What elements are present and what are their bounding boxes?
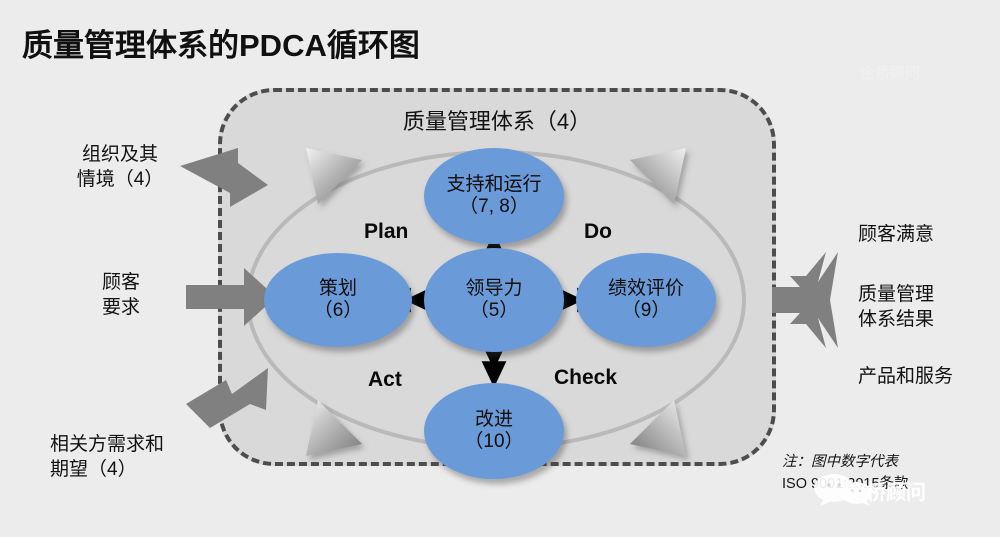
input-arrow-context <box>180 148 268 207</box>
node-leadership[interactable]: 领导力 （5） <box>424 248 564 352</box>
node-leadership-line1: 领导力 <box>465 278 522 300</box>
output-label-satisfaction-line1: 顾客满意 <box>858 222 934 247</box>
node-improvement[interactable]: 改进 （10） <box>424 383 564 479</box>
cycle-arrow-act <box>306 400 362 456</box>
input-label-customer-line2: 要求 <box>66 295 176 320</box>
node-plan[interactable]: 策划 （6） <box>264 253 412 347</box>
node-support[interactable]: 支持和运行 （7, 8） <box>424 148 564 244</box>
output-label-satisfaction: 顾客满意 <box>858 222 934 247</box>
footnote-line2: ISO 9001:2015条款 <box>782 474 909 496</box>
stage-label-act: Act <box>368 368 402 392</box>
cycle-arrow-plan <box>306 148 362 204</box>
node-performance-line1: 绩效评价 <box>608 278 684 300</box>
stage-label-do: Do <box>584 220 612 244</box>
input-label-party-line2: 期望（4） <box>50 457 220 482</box>
input-label-context-line1: 组织及其 <box>50 142 190 167</box>
input-label-customer: 顾客 要求 <box>66 270 176 321</box>
output-label-qms-results: 质量管理 体系结果 <box>858 282 934 333</box>
cycle-arrow-do <box>630 148 686 204</box>
input-label-context: 组织及其 情境（4） <box>50 142 190 193</box>
diagram-canvas: 质量管理体系的PDCA循环图 质量管理体系（4） <box>0 0 1000 537</box>
node-improvement-line1: 改进 <box>475 409 513 431</box>
input-arrow-party <box>186 368 268 428</box>
output-label-qms-results-line2: 体系结果 <box>858 307 934 332</box>
input-label-party: 相关方需求和 期望（4） <box>50 432 220 483</box>
output-label-qms-results-line1: 质量管理 <box>858 282 934 307</box>
stage-label-check: Check <box>554 366 617 390</box>
footnote-line1: 注：图中数字代表 <box>782 452 909 474</box>
node-plan-line1: 策划 <box>319 278 357 300</box>
output-label-products: 产品和服务 <box>858 364 953 389</box>
node-plan-line2: （6） <box>314 300 363 322</box>
output-split-arrow <box>772 252 838 348</box>
node-support-line1: 支持和运行 <box>446 174 541 196</box>
node-support-line2: （7, 8） <box>459 196 529 218</box>
input-arrow-customer <box>186 268 276 326</box>
footnote: 注：图中数字代表 ISO 9001:2015条款 <box>782 452 909 496</box>
input-label-customer-line1: 顾客 <box>66 270 176 295</box>
output-label-products-line1: 产品和服务 <box>858 364 953 389</box>
stage-label-plan: Plan <box>364 220 408 244</box>
node-performance[interactable]: 绩效评价 （9） <box>576 253 716 347</box>
input-label-context-line2: 情境（4） <box>50 167 190 192</box>
input-label-party-line1: 相关方需求和 <box>50 432 220 457</box>
node-improvement-line2: （10） <box>464 431 523 453</box>
node-leadership-line2: （5） <box>470 300 519 322</box>
node-performance-line2: （9） <box>622 300 671 322</box>
cycle-arrow-check <box>630 400 686 456</box>
